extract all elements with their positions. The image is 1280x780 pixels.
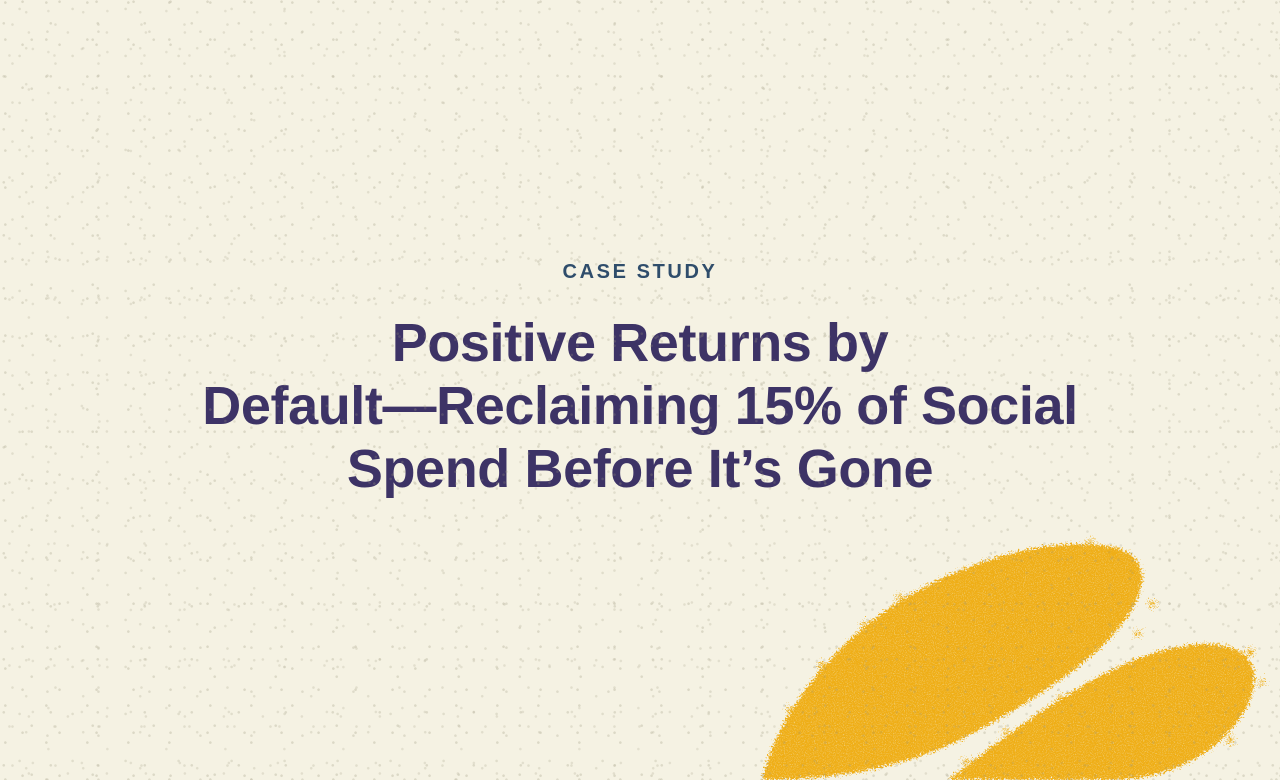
- brush-stroke-swoosh-graphic: [760, 530, 1280, 780]
- eyebrow-label: CASE STUDY: [90, 262, 1190, 282]
- headline-line-1: Positive Returns by: [90, 312, 1190, 375]
- page-title: Positive Returns by Default—Reclaiming 1…: [90, 312, 1190, 501]
- brush-speckles: [787, 539, 1265, 765]
- case-study-title-slide: CASE STUDY Positive Returns by Default—R…: [0, 0, 1280, 780]
- headline-line-3: Spend Before It’s Gone: [90, 438, 1190, 501]
- title-text-block: CASE STUDY Positive Returns by Default—R…: [0, 262, 1280, 501]
- headline-line-2: Default—Reclaiming 15% of Social: [90, 375, 1190, 438]
- brush-stroke-secondary: [948, 644, 1255, 780]
- brush-stroke-primary: [762, 544, 1142, 780]
